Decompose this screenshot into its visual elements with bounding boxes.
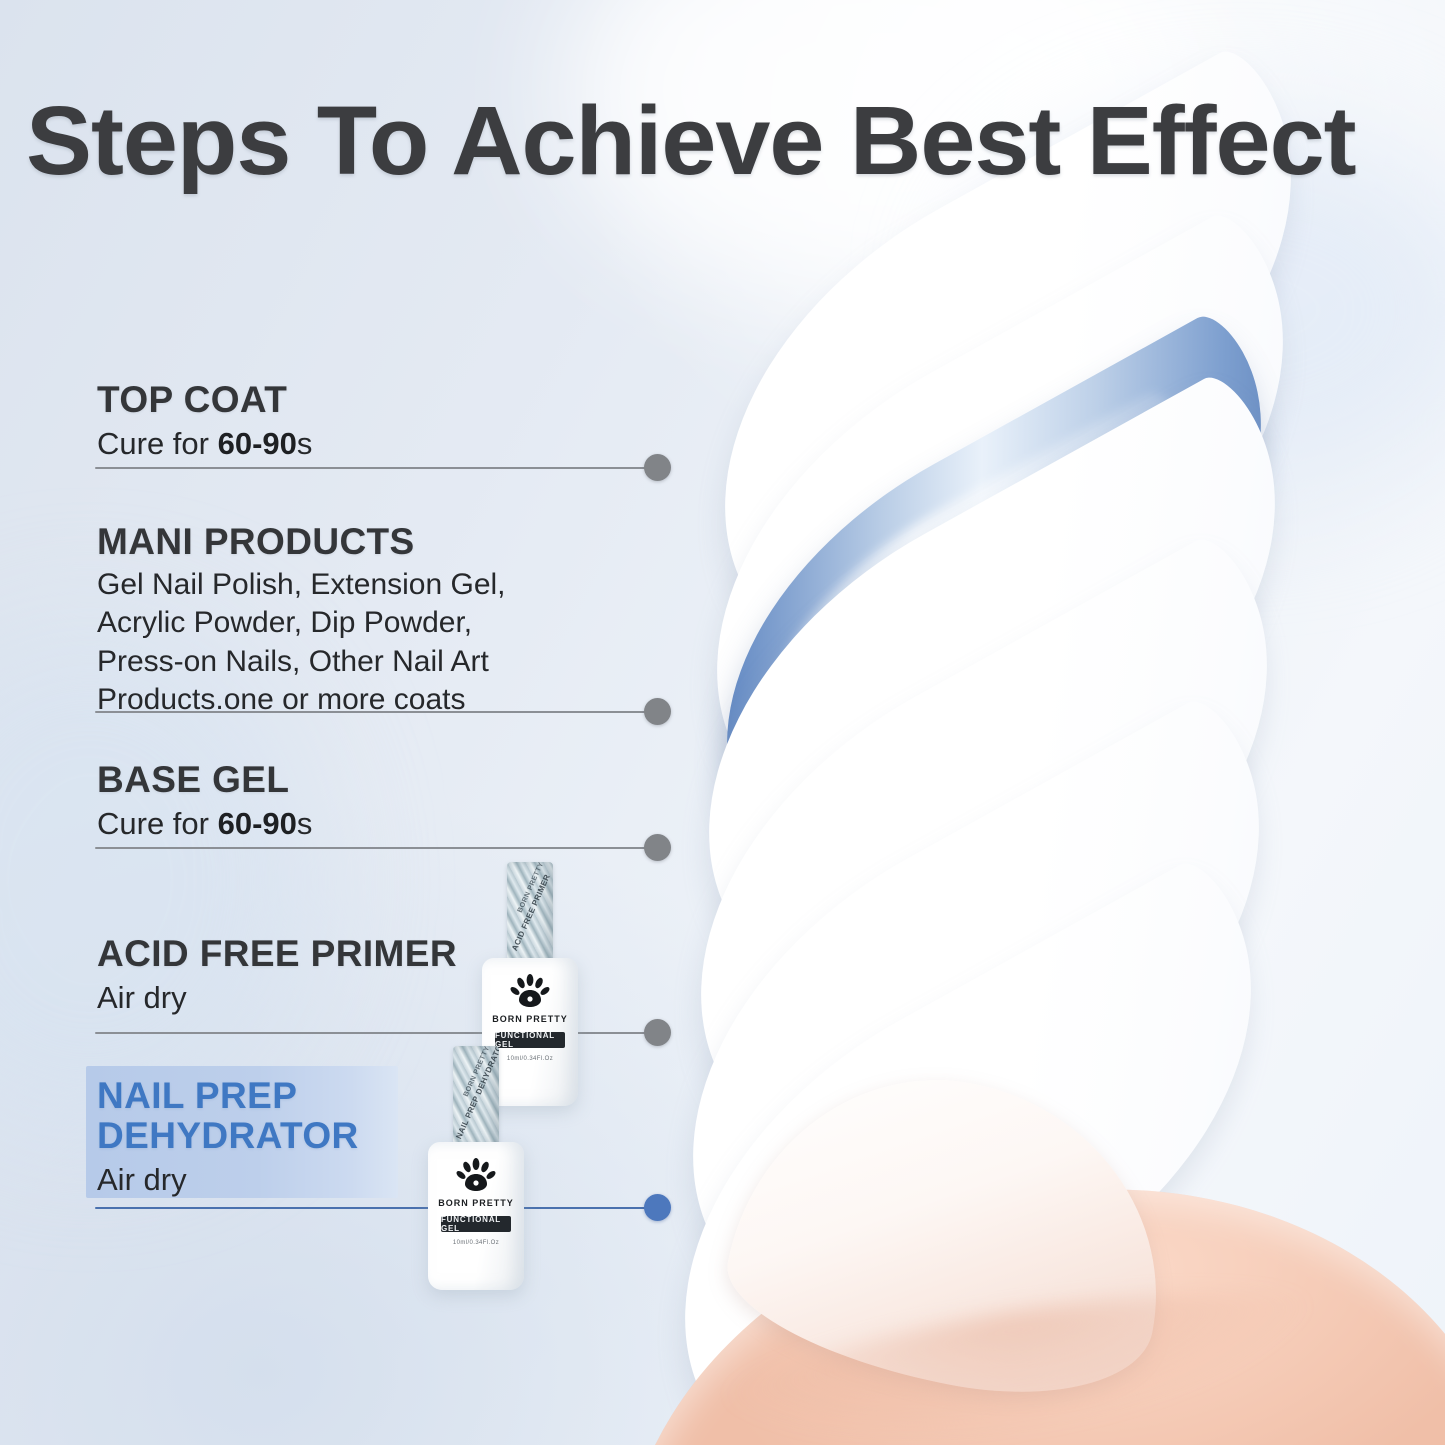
- step-mani-products-heading: MANI PRODUCTS: [97, 522, 567, 562]
- nail-prep-dehydrator-bottle[interactable]: NAIL PREP DEHYDRATOR BORN PRETTY BORN PR…: [428, 1046, 524, 1290]
- step-nail-prep-dehydrator-detail: Air dry: [97, 1160, 417, 1200]
- bottle-cap-primer: ACID FREE PRIMER BORN PRETTY: [507, 862, 553, 964]
- step-top-coat[interactable]: TOP COAT Cure for 60-90s: [97, 380, 312, 464]
- step-base-gel[interactable]: BASE GEL Cure for 60-90s: [97, 760, 312, 844]
- connector-line-top-coat: [95, 467, 651, 469]
- step-nail-prep-dehydrator[interactable]: NAIL PREP DEHYDRATOR Air dry: [97, 1076, 417, 1200]
- connector-dot-top-coat[interactable]: [644, 454, 671, 481]
- connector-line-mani-products: [95, 711, 651, 713]
- connector-dot-mani-products[interactable]: [644, 698, 671, 725]
- bottle-body-dehydrator: BORN PRETTY FUNCTIONAL GEL 10ml/0.34Fl.O…: [428, 1142, 524, 1290]
- detail-line-3: Press-on Nails, Other Nail Art: [97, 645, 489, 678]
- step-acid-free-primer-detail: Air dry: [97, 978, 457, 1018]
- step-top-coat-detail: Cure for 60-90s: [97, 424, 312, 464]
- step-nail-prep-dehydrator-heading: NAIL PREP DEHYDRATOR: [97, 1076, 417, 1156]
- step-mani-products-detail: Gel Nail Polish, Extension Gel, Acrylic …: [97, 566, 567, 720]
- steps-list: TOP COAT Cure for 60-90s MANI PRODUCTS G…: [0, 0, 700, 1445]
- bottle-brand-text: BORN PRETTY: [428, 1198, 524, 1208]
- detail-bold: 60-90: [218, 806, 297, 841]
- detail-suffix: s: [297, 426, 313, 461]
- step-base-gel-detail: Cure for 60-90s: [97, 804, 312, 844]
- bottle-band-label: FUNCTIONAL GEL: [441, 1216, 511, 1232]
- born-pretty-flower-logo-icon: [456, 1158, 496, 1192]
- bottle-brand-text: BORN PRETTY: [482, 1014, 578, 1024]
- step-top-coat-heading: TOP COAT: [97, 380, 312, 420]
- detail-prefix: Cure for: [97, 426, 218, 461]
- connector-dot-nail-prep-dehydrator[interactable]: [644, 1194, 671, 1221]
- born-pretty-flower-logo-icon: [510, 974, 550, 1008]
- connector-dot-acid-free-primer[interactable]: [644, 1019, 671, 1046]
- bottle-cap-dehydrator: NAIL PREP DEHYDRATOR BORN PRETTY: [453, 1046, 499, 1148]
- step-mani-products[interactable]: MANI PRODUCTS Gel Nail Polish, Extension…: [97, 522, 567, 720]
- detail-bold: 60-90: [218, 426, 297, 461]
- connector-dot-base-gel[interactable]: [644, 834, 671, 861]
- detail-line-1: Gel Nail Polish, Extension Gel,: [97, 568, 506, 601]
- bottle-volume-text: 10ml/0.34Fl.Oz: [428, 1240, 524, 1246]
- detail-prefix: Cure for: [97, 806, 218, 841]
- poster-canvas: Steps To Achieve Best Effect TOP COAT Cu…: [0, 0, 1445, 1445]
- step-base-gel-heading: BASE GEL: [97, 760, 312, 800]
- detail-suffix: s: [297, 806, 313, 841]
- step-acid-free-primer-heading: ACID FREE PRIMER: [97, 934, 457, 974]
- connector-line-base-gel: [95, 847, 651, 849]
- step-acid-free-primer[interactable]: ACID FREE PRIMER Air dry: [97, 934, 457, 1018]
- connector-line-nail-prep-dehydrator: [95, 1207, 651, 1209]
- detail-line-2: Acrylic Powder, Dip Powder,: [97, 606, 472, 639]
